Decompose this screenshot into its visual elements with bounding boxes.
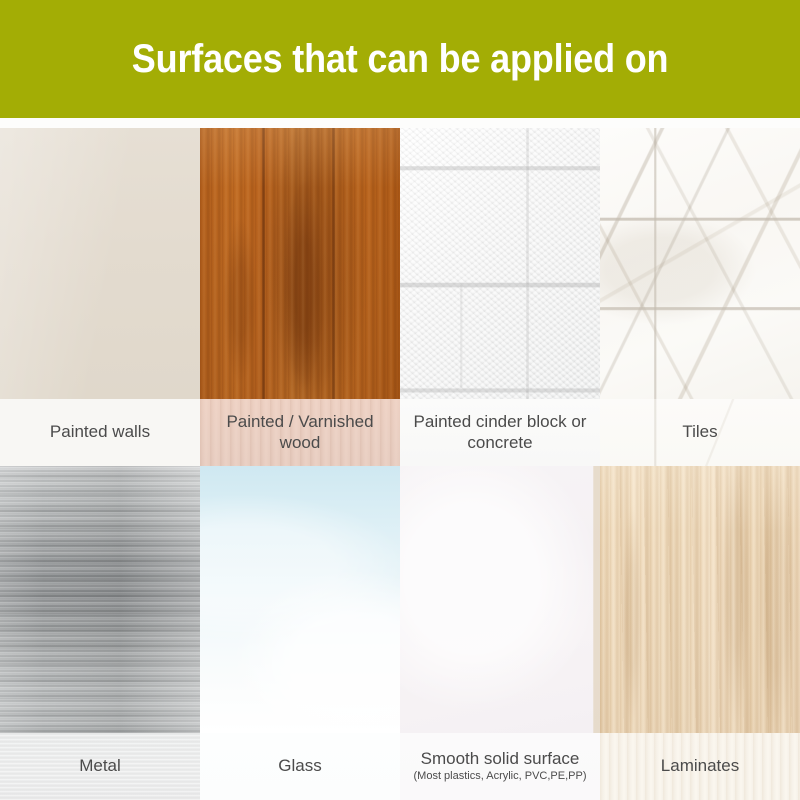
surface-cell-glass[interactable]: Glass [200,466,400,800]
surface-grid-row: Metal Glass Smooth solid surface (Most p… [0,466,800,800]
surface-label-glass: Glass [200,733,400,800]
surface-label-tiles: Tiles [600,399,800,466]
surface-label-text: Painted cinder block or concrete [406,412,594,453]
page-title: Surfaces that can be applied on [132,39,669,79]
glass-swatch [200,466,400,733]
surface-grid-row: Painted walls Painted / Varnished wood P… [0,128,800,466]
surface-label-laminates: Laminates [600,733,800,800]
laminate-swatch [600,466,800,733]
surface-label-painted-cinder-block: Painted cinder block or concrete [400,399,600,466]
surface-label-text: Tiles [682,422,717,443]
varnished-wood-swatch [200,128,400,399]
surface-cell-metal[interactable]: Metal [0,466,200,800]
surface-cell-laminates[interactable]: Laminates [600,466,800,800]
surface-cell-painted-cinder-block[interactable]: Painted cinder block or concrete [400,128,600,466]
cinder-block-swatch [400,128,600,399]
page-header: Surfaces that can be applied on [0,0,800,118]
surface-cell-tiles[interactable]: Tiles [600,128,800,466]
brushed-metal-swatch [0,466,200,733]
surface-label-text: Laminates [661,756,739,777]
surface-label-text: Glass [278,756,321,777]
surface-cell-painted-varnished-wood[interactable]: Painted / Varnished wood [200,128,400,466]
surface-label-sublabel: (Most plastics, Acrylic, PVC,PE,PP) [414,770,587,784]
surface-label-text: Smooth solid surface [421,749,580,770]
surface-label-text: Painted / Varnished wood [206,412,394,453]
surface-label-painted-walls: Painted walls [0,399,200,466]
painted-wall-swatch [0,128,200,399]
surface-label-painted-varnished-wood: Painted / Varnished wood [200,399,400,466]
smooth-solid-surface-swatch [400,466,600,733]
surface-label-text: Painted walls [50,422,150,443]
surface-label-text: Metal [79,756,121,777]
surface-label-metal: Metal [0,733,200,800]
surface-grid: Painted walls Painted / Varnished wood P… [0,128,800,800]
marble-tile-swatch [600,128,800,399]
surface-cell-smooth-solid-surface[interactable]: Smooth solid surface (Most plastics, Acr… [400,466,600,800]
surface-cell-painted-walls[interactable]: Painted walls [0,128,200,466]
surface-label-smooth-solid-surface: Smooth solid surface (Most plastics, Acr… [400,733,600,800]
header-divider [0,118,800,128]
